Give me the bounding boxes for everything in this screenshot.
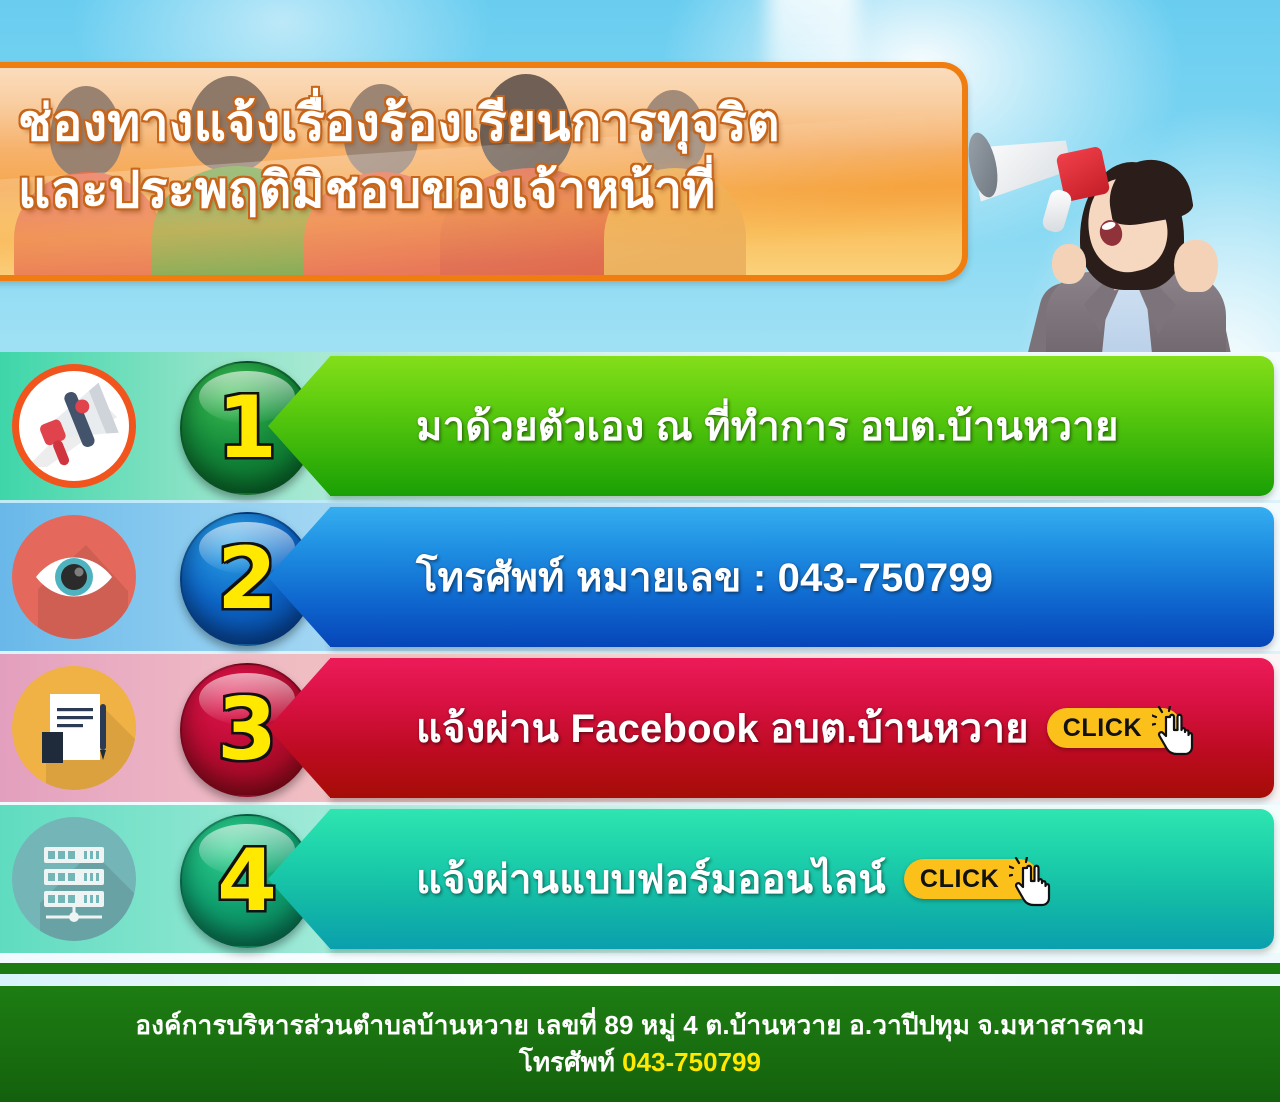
document-pen-icon: [12, 666, 136, 790]
footer-address: องค์การบริหารส่วนตำบลบ้านหวาย เลขที่ 89 …: [135, 1007, 1144, 1044]
step-number: 1: [217, 385, 277, 471]
click-button-label: CLICK: [920, 865, 999, 894]
channel-row: 3 แจ้งผ่าน Facebook อบต.บ้านหวาย CLICK: [0, 654, 1280, 802]
channel-row: 2 โทรศัพท์ หมายเลข : 043-750799: [0, 503, 1280, 651]
infographic-poster: ช่องทางแจ้งเรื่องร้องเรียนการทุจริต และป…: [0, 0, 1280, 1102]
hand-cursor-icon: [1009, 857, 1057, 909]
page-title: ช่องทางแจ้งเรื่องร้องเรียนการทุจริต และป…: [18, 90, 928, 224]
step-number: 4: [217, 838, 277, 924]
channel-ribbon[interactable]: แจ้งผ่านแบบฟอร์มออนไลน์ CLICK: [330, 809, 1274, 949]
megaphone-grip: [1041, 188, 1074, 234]
woman-with-megaphone-photo: [988, 132, 1256, 362]
click-button-label: CLICK: [1063, 714, 1142, 743]
megaphone-hand: [1052, 244, 1086, 284]
footer: องค์การบริหารส่วนตำบลบ้านหวาย เลขที่ 89 …: [0, 986, 1280, 1102]
channel-row: 1 มาด้วยตัวเอง ณ ที่ทำการ อบต.บ้านหวาย: [0, 352, 1280, 500]
footer-phone-number: 043-750799: [622, 1047, 761, 1077]
click-button[interactable]: CLICK: [1047, 708, 1182, 748]
channel-label: โทรศัพท์ หมายเลข : 043-750799: [416, 545, 993, 609]
channel-ribbon[interactable]: แจ้งผ่าน Facebook อบต.บ้านหวาย CLICK: [330, 658, 1274, 798]
step-number: 2: [217, 536, 277, 622]
click-button[interactable]: CLICK: [904, 859, 1039, 899]
channel-row: 4 แจ้งผ่านแบบฟอร์มออนไลน์ CLICK: [0, 805, 1280, 953]
hand-cursor-icon: [1152, 706, 1200, 758]
header-banner: ช่องทางแจ้งเรื่องร้องเรียนการทุจริต และป…: [0, 62, 968, 281]
footer-phone-line: โทรศัพท์ 043-750799: [519, 1044, 761, 1081]
server-network-icon: [12, 817, 136, 941]
megaphone-icon: [12, 364, 136, 488]
channel-list: 1 มาด้วยตัวเอง ณ ที่ทำการ อบต.บ้านหวาย 2: [0, 352, 1280, 956]
channel-ribbon[interactable]: โทรศัพท์ หมายเลข : 043-750799: [330, 507, 1274, 647]
channel-label: มาด้วยตัวเอง ณ ที่ทำการ อบต.บ้านหวาย: [416, 394, 1119, 458]
green-divider-stripe: [0, 963, 1280, 974]
page-title-line-2: และประพฤติมิชอบของเจ้าหน้าที่: [18, 157, 928, 224]
step-number: 3: [217, 687, 277, 773]
channel-label: แจ้งผ่าน Facebook อบต.บ้านหวาย: [416, 696, 1029, 760]
raised-hand: [1174, 240, 1218, 292]
footer-phone-label: โทรศัพท์: [519, 1047, 615, 1077]
eye-icon: [12, 515, 136, 639]
page-title-line-1: ช่องทางแจ้งเรื่องร้องเรียนการทุจริต: [18, 95, 780, 151]
channel-label: แจ้งผ่านแบบฟอร์มออนไลน์: [416, 847, 886, 911]
channel-ribbon[interactable]: มาด้วยตัวเอง ณ ที่ทำการ อบต.บ้านหวาย: [330, 356, 1274, 496]
light-divider-stripe: [0, 974, 1280, 986]
